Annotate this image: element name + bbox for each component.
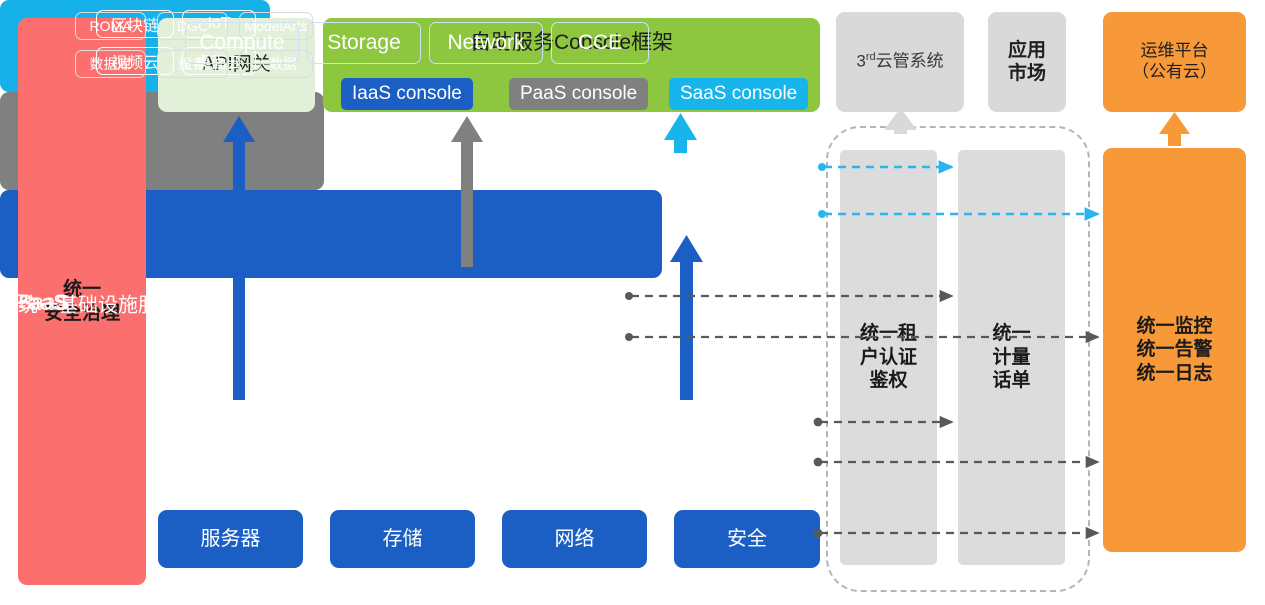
paas-chip-roma-label: ROMA [90, 18, 132, 34]
arrow-infra-to-saas [670, 235, 703, 400]
third-party-prefix: 3 [856, 52, 865, 71]
third-party-superscript: rd [866, 51, 876, 63]
ops-monitor-line3: 统一日志 [1136, 362, 1212, 385]
resource-box-server-label: 服务器 [201, 527, 261, 551]
infra-chip-network-label: Network [447, 31, 524, 55]
paas-console-label: PaaS console [520, 82, 637, 105]
resource-box-server[interactable]: 服务器 [158, 510, 303, 568]
resource-box-network-label: 网络 [555, 527, 595, 551]
architecture-diagram: 统一 安全治理 API网关 自助服务Console框架 IaaS console… [0, 0, 1265, 605]
ops-monitor-line1: 统一监控 [1136, 315, 1212, 338]
infra-chip-cce[interactable]: CCE [551, 22, 649, 64]
resource-box-storage[interactable]: 存储 [330, 510, 475, 568]
auth-line2: 户认证 [860, 346, 917, 370]
infra-chip-cce-label: CCE [578, 31, 622, 55]
iaas-console-chip[interactable]: IaaS console [341, 78, 473, 110]
third-party-rest: 云管系统 [876, 52, 944, 71]
app-market-line2: 市场 [1008, 62, 1046, 85]
iaas-console-label: IaaS console [352, 82, 462, 105]
infra-chip-storage-label: Storage [327, 31, 401, 55]
resource-box-security-label: 安全 [727, 527, 767, 551]
ops-monitoring-panel[interactable]: 统一监控 统一告警 统一日志 [1103, 148, 1246, 552]
meter-line3: 话单 [992, 369, 1030, 393]
app-market-line1: 应用 [1008, 39, 1046, 62]
saas-console-label: SaaS console [680, 82, 797, 105]
arrow-saas-to-saas-console [664, 113, 697, 153]
ops-platform-line2: （公有云） [1132, 62, 1217, 83]
resource-box-network[interactable]: 网络 [502, 510, 647, 568]
paas-chip-database-label: 数据库 [90, 54, 132, 74]
unified-tenant-auth-column[interactable]: 统一租 户认证 鉴权 [840, 150, 937, 565]
unified-infrastructure-label: 统一基础设施服务 [18, 288, 178, 317]
saas-console-chip[interactable]: SaaS console [669, 78, 808, 110]
paas-chip-database[interactable]: 数据库 [75, 50, 146, 78]
infra-chip-compute-label: Compute [199, 31, 284, 55]
third-party-label: 3rd云管系统 [856, 51, 943, 72]
infra-chip-compute[interactable]: Compute [185, 22, 299, 64]
meter-line1: 统一 [992, 322, 1030, 346]
meter-line2: 计量 [992, 346, 1030, 370]
infra-chip-network[interactable]: Network [429, 22, 543, 64]
ops-monitor-line2: 统一告警 [1136, 338, 1212, 361]
auth-line1: 统一租 [860, 322, 917, 346]
auth-line3: 鉴权 [860, 369, 917, 393]
unified-metering-billing-column[interactable]: 统一 计量 话单 [958, 150, 1065, 565]
paas-console-chip[interactable]: PaaS console [509, 78, 648, 110]
app-market-box[interactable]: 应用 市场 [988, 12, 1066, 112]
arrow-to-ops-platform [1159, 112, 1190, 146]
third-party-cloud-mgmt-box[interactable]: 3rd云管系统 [836, 12, 964, 112]
ops-platform-box[interactable]: 运维平台 （公有云） [1103, 12, 1246, 112]
resource-box-storage-label: 存储 [383, 527, 423, 551]
infra-chip-storage[interactable]: Storage [307, 22, 421, 64]
resource-box-security[interactable]: 安全 [674, 510, 820, 568]
paas-chip-roma[interactable]: ROMA [75, 12, 146, 40]
ops-platform-line1: 运维平台 [1132, 41, 1217, 62]
